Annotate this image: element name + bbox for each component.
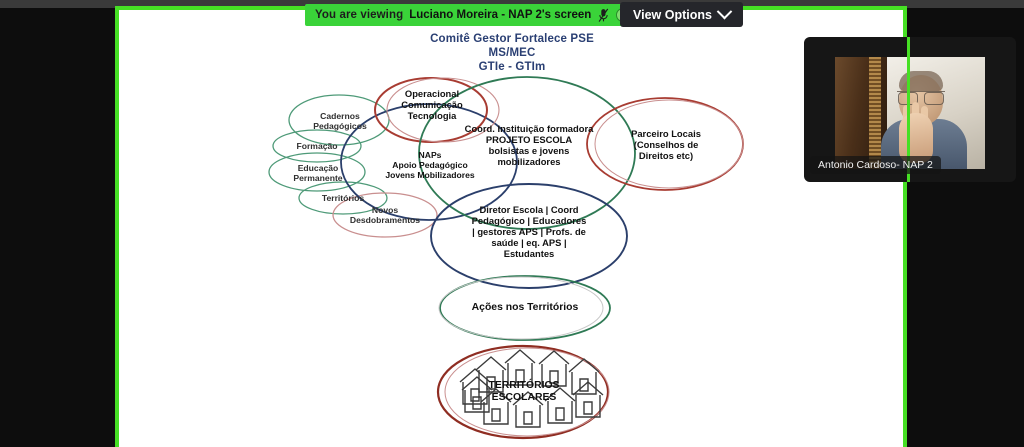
node-territorios: Territórios [303, 193, 383, 203]
node-educacao-permanente: Educação Permanente [273, 163, 363, 183]
node-operacional-line-2: Comunicação [373, 99, 491, 110]
node-educacao-line-1: Educação [273, 163, 363, 173]
screen-share-banner: You are viewing Luciano Moreira - NAP 2'… [305, 4, 640, 26]
node-diretor-escola: Diretor Escola | Coord Pedagógico | Educ… [439, 204, 619, 259]
node-coord-line-1: Coord. Instituição formadora [447, 123, 611, 134]
banner-viewing-prefix: You are viewing [315, 9, 403, 21]
node-educacao-line-2: Permanente [273, 173, 363, 183]
node-novos-line-1: Novos [333, 205, 437, 215]
node-parceiro-line-3: Direitos etc) [607, 150, 725, 161]
banner-presenter-name: Luciano Moreira - NAP 2's screen [409, 9, 591, 21]
node-coord-line-2: PROJETO ESCOLA [447, 134, 611, 145]
node-operacional-line-3: Tecnologia [373, 110, 491, 121]
node-cadernos-pedagogicos: Cadernos Pedagógicos [295, 111, 385, 131]
view-options-label: View Options [633, 8, 712, 22]
node-diretor-line-2: Pedagógico | Educadores [439, 215, 619, 226]
node-novos-desdobramentos: Novos Desdobramentos [333, 205, 437, 225]
node-operacional: Operacional Comunicação Tecnologia [373, 88, 491, 121]
pse-diagram: Comitê Gestor Fortalece PSE MS/MEC GTIe … [121, 10, 903, 447]
node-diretor-line-3: | gestores APS | Profs. de [439, 226, 619, 237]
node-naps-line-3: Jovens Mobilizadores [359, 170, 501, 180]
node-coord-line-3: bolsistas e jovens [447, 145, 611, 156]
node-parceiro-line-2: (Conselhos de [607, 139, 725, 150]
participant-name-label: Antonio Cardoso- NAP 2 [810, 156, 941, 174]
node-cadernos-line-1: Cadernos [295, 111, 385, 121]
participant-video-feed [835, 57, 985, 169]
node-diretor-line-1: Diretor Escola | Coord [439, 204, 619, 215]
node-territorios-escolares-line-2: ESCOLARES [451, 392, 597, 404]
node-diretor-line-5: Estudantes [439, 248, 619, 259]
node-diretor-line-4: saúde | eq. APS | [439, 237, 619, 248]
node-formacao: Formação [277, 141, 357, 151]
node-coord-projeto-escola: Coord. Instituição formadora PROJETO ESC… [447, 123, 611, 167]
node-parceiro-line-1: Parceiro Locais [607, 128, 725, 139]
node-acoes-territorios: Ações nos Territórios [445, 302, 605, 314]
participant-video-tile[interactable]: Antonio Cardoso- NAP 2 [804, 37, 1016, 182]
view-options-button[interactable]: View Options [620, 2, 743, 27]
node-novos-line-2: Desdobramentos [333, 215, 437, 225]
node-operacional-line-1: Operacional [373, 88, 491, 99]
node-cadernos-line-2: Pedagógicos [295, 121, 385, 131]
node-parceiro-locais: Parceiro Locais (Conselhos de Direitos e… [607, 128, 725, 161]
chevron-down-icon [717, 4, 733, 20]
node-territorios-escolares-line-1: TERRITÓRIOS [451, 380, 597, 392]
node-coord-line-4: mobilizadores [447, 156, 611, 167]
node-territorios-escolares: TERRITÓRIOS ESCOLARES [451, 380, 597, 405]
zoom-screen-share-window: Comitê Gestor Fortalece PSE MS/MEC GTIe … [0, 0, 1024, 447]
microphone-muted-icon [598, 8, 609, 23]
shared-slide-content: Comitê Gestor Fortalece PSE MS/MEC GTIe … [121, 10, 903, 447]
